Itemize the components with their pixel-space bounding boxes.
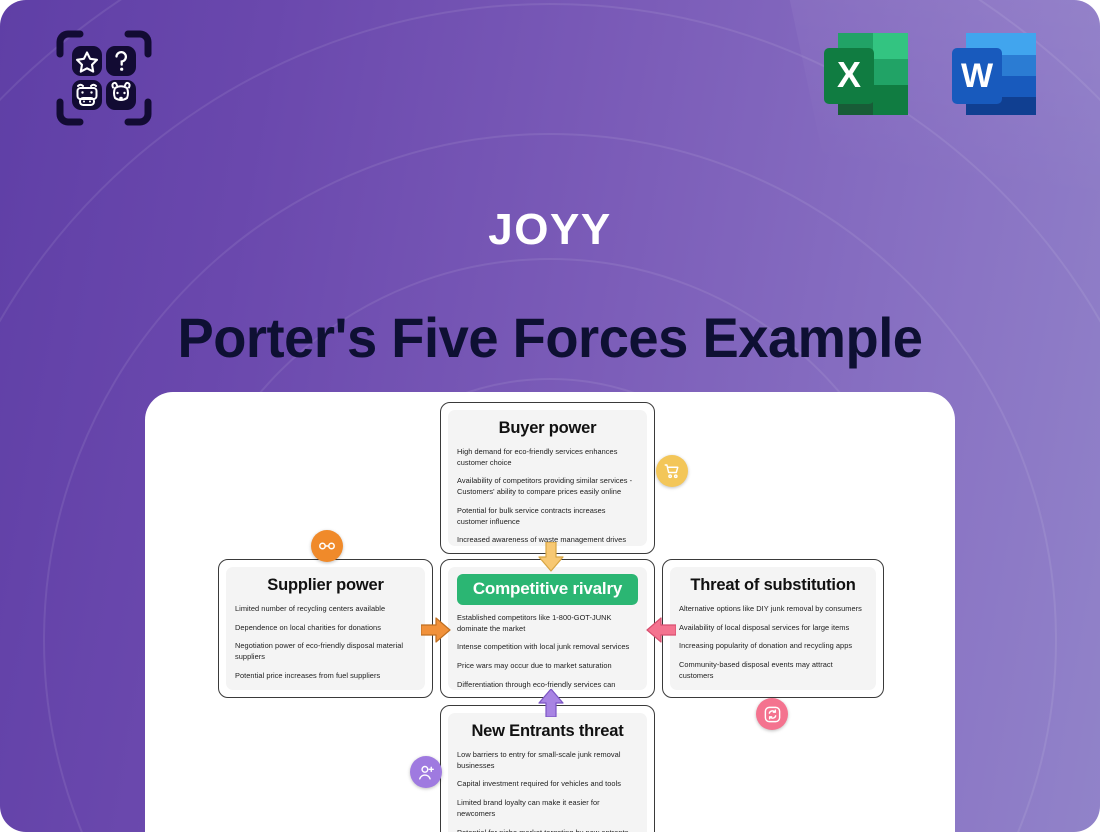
list-item: Potential for bulk service contracts inc… xyxy=(457,506,638,527)
force-title: Buyer power xyxy=(457,419,638,438)
arrow-buyer-down-icon xyxy=(535,542,567,572)
list-item: Availability of competitors providing si… xyxy=(457,476,638,497)
word-icon: W xyxy=(944,26,1044,126)
arrow-substitute-left-icon xyxy=(646,614,676,646)
list-item: Potential price increases from fuel supp… xyxy=(235,671,416,682)
list-item: Alternative options like DIY junk remova… xyxy=(679,604,867,615)
office-app-icons: X W xyxy=(816,26,1044,126)
shopping-cart-icon xyxy=(656,455,688,487)
arrow-entrants-up-icon xyxy=(535,689,567,717)
brand-logo xyxy=(50,24,158,132)
excel-icon: X xyxy=(816,26,916,126)
poster: X W JOYY Porter's Five Forces Example Bu… xyxy=(0,0,1100,832)
svg-text:W: W xyxy=(961,57,994,95)
force-item-list: Low barriers to entry for small-scale ju… xyxy=(457,750,638,832)
list-item: Price wars may occur due to market satur… xyxy=(457,661,638,672)
force-title: Supplier power xyxy=(235,576,416,595)
porters-five-forces-diagram: Buyer power High demand for eco-friendly… xyxy=(145,392,955,832)
cow-icon xyxy=(72,80,102,110)
force-box-new-entrants-threat[interactable]: New Entrants threat Low barriers to entr… xyxy=(440,705,655,832)
diagram-board: Buyer power High demand for eco-friendly… xyxy=(145,392,955,832)
force-title: Threat of substitution xyxy=(679,576,867,595)
force-item-list: Established competitors like 1-800-GOT-J… xyxy=(457,613,638,690)
list-item: Limited number of recycling centers avai… xyxy=(235,604,416,615)
list-item: Established competitors like 1-800-GOT-J… xyxy=(457,613,638,634)
force-item-list: Alternative options like DIY junk remova… xyxy=(679,604,867,690)
star-icon xyxy=(72,46,102,76)
list-item: Intense competition with local junk remo… xyxy=(457,642,638,653)
force-box-supplier-power[interactable]: Supplier power Limited number of recycli… xyxy=(218,559,433,698)
dumbbell-icon xyxy=(311,530,343,562)
force-item-list: High demand for eco-friendly services en… xyxy=(457,447,638,546)
list-item: Dependence on local charities for donati… xyxy=(235,623,416,634)
force-title: New Entrants threat xyxy=(457,722,638,741)
list-item: Capital investment required for vehicles… xyxy=(457,779,638,790)
force-box-competitive-rivalry[interactable]: Competitive rivalry Established competit… xyxy=(440,559,655,698)
list-item: Negotiation power of eco-friendly dispos… xyxy=(235,641,416,662)
arrow-supplier-right-icon xyxy=(421,614,451,646)
svg-text:X: X xyxy=(837,54,861,95)
question-mark-icon xyxy=(106,46,136,76)
force-box-threat-of-substitution[interactable]: Threat of substitution Alternative optio… xyxy=(662,559,884,698)
list-item: Potential for niche market targeting by … xyxy=(457,828,638,832)
page-title: Porter's Five Forces Example xyxy=(17,305,1084,370)
dog-icon xyxy=(106,80,136,110)
add-user-icon xyxy=(410,756,442,788)
list-item: Low barriers to entry for small-scale ju… xyxy=(457,750,638,771)
brand-name: JOYY xyxy=(0,205,1100,255)
list-item: High demand for eco-friendly services en… xyxy=(457,447,638,468)
list-item: Community-based disposal events may attr… xyxy=(679,660,867,681)
list-item: Availability of local disposal services … xyxy=(679,623,867,634)
force-title: Competitive rivalry xyxy=(457,574,638,605)
force-box-buyer-power[interactable]: Buyer power High demand for eco-friendly… xyxy=(440,402,655,554)
list-item: Limited brand loyalty can make it easier… xyxy=(457,798,638,819)
list-item: Increasing popularity of donation and re… xyxy=(679,641,867,652)
force-item-list: Limited number of recycling centers avai… xyxy=(235,604,416,690)
refresh-swap-icon xyxy=(756,698,788,730)
